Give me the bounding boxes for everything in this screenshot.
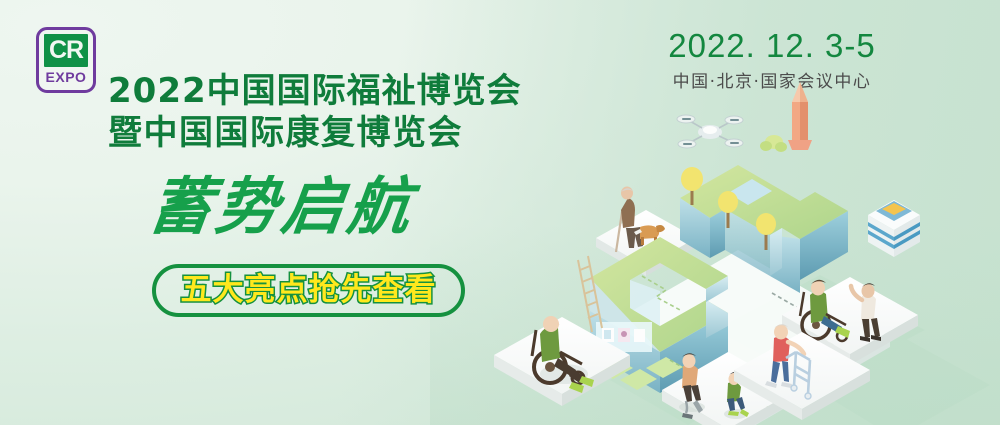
highlights-cta-button[interactable]: 五大亮点抢先查看 (152, 264, 465, 317)
event-slogan: 蓄势启航 (146, 172, 419, 242)
isometric-illustration (470, 80, 1000, 425)
logo-subtitle: EXPO (46, 70, 87, 84)
drone-icon (677, 115, 743, 148)
logo-mark-label: CR (49, 38, 83, 63)
highlights-cta-label: 五大亮点抢先查看 (181, 275, 437, 306)
event-banner: CR EXPO 2022中国国际福祉博览会 暨中国国际康复博览会 蓄势启航 五大… (0, 0, 1000, 425)
cr-expo-logo: CR EXPO (36, 27, 96, 93)
event-title: 2022中国国际福祉博览会 暨中国国际康复博览会 (108, 70, 522, 154)
event-title-line-2: 暨中国国际康复博览会 (108, 112, 522, 154)
event-title-line-1: 2022中国国际福祉博览会 (108, 70, 522, 112)
logo-mark: CR (44, 34, 88, 67)
event-date: 2022. 12. 3-5 (646, 26, 898, 66)
pencil-tower (788, 82, 812, 150)
stacked-box (868, 200, 920, 257)
